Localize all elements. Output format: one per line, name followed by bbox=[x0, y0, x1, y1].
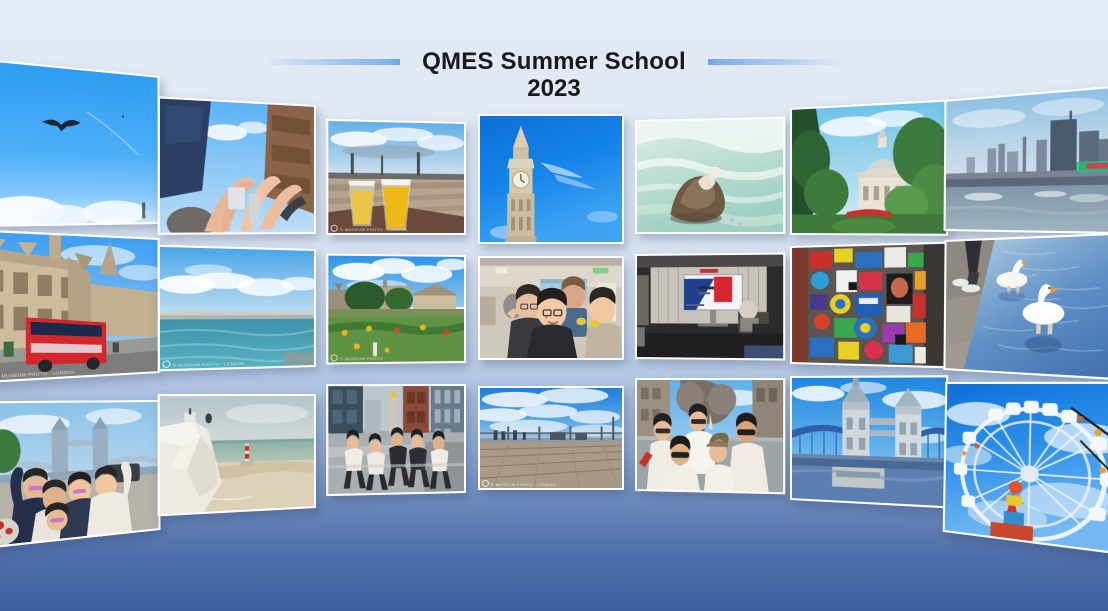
gallery-photo[interactable] bbox=[635, 252, 785, 360]
gallery-photo[interactable] bbox=[478, 114, 624, 244]
gallery-photo[interactable]: © MUSEUM PHOTO · LONDON bbox=[158, 245, 316, 372]
photo-college-gardens bbox=[328, 256, 464, 363]
gallery-photo[interactable]: © MUSEUM PHOTO bbox=[326, 254, 466, 365]
slide-title-block: QMES Summer School 2023 bbox=[0, 48, 1108, 104]
gallery-photo[interactable] bbox=[635, 117, 785, 234]
photo-st-pauls-cathedral bbox=[792, 102, 946, 234]
page-title: QMES Summer School bbox=[422, 48, 686, 76]
gallery-photo[interactable] bbox=[158, 394, 316, 516]
gallery-photo[interactable] bbox=[944, 84, 1108, 234]
title-rule-right-icon bbox=[708, 59, 840, 65]
photo-oxford-street-bus bbox=[0, 232, 158, 381]
photo-beer-on-pier bbox=[328, 121, 464, 233]
gallery-photo[interactable]: © MUSEUM PHOTO · LONDON bbox=[0, 229, 160, 383]
photo-coastal-sea-view bbox=[160, 247, 314, 369]
photo-ferris-wheel bbox=[945, 384, 1108, 554]
gallery-photo[interactable] bbox=[943, 232, 1108, 381]
photo-waves-rocks bbox=[637, 119, 783, 232]
presentation-slide: © MUSEUM PHOTO · LONDON bbox=[0, 0, 1108, 611]
photo-thames-skyline-dusk bbox=[946, 87, 1108, 232]
gallery-photo[interactable] bbox=[326, 384, 466, 496]
page-title-year: 2023 bbox=[0, 75, 1108, 103]
gallery-photo[interactable] bbox=[635, 378, 785, 494]
photo-swans-waterfront bbox=[945, 235, 1108, 379]
photo-hand-gesture-city bbox=[160, 99, 314, 233]
photo-watermark: © MUSEUM PHOTO bbox=[330, 354, 383, 362]
photo-tower-bridge bbox=[792, 377, 946, 506]
photo-wooden-pier-boardwalk bbox=[480, 388, 622, 488]
photo-students-monument-street bbox=[328, 386, 464, 494]
photo-watermark: © MUSEUM PHOTO · LONDON bbox=[482, 480, 556, 487]
photo-watermark: © MUSEUM PHOTO · LONDON bbox=[330, 225, 407, 232]
gallery-photo[interactable] bbox=[158, 96, 316, 235]
photo-group-selfie-indoor bbox=[480, 258, 622, 358]
photo-big-ben bbox=[480, 116, 622, 242]
photo-sticker-graffiti-wall bbox=[792, 244, 946, 366]
gallery-photo[interactable] bbox=[790, 99, 948, 235]
gallery-photo[interactable] bbox=[790, 375, 948, 508]
photo-chalk-cliffs-beach bbox=[160, 396, 314, 514]
gallery-photo[interactable] bbox=[0, 400, 161, 549]
photo-group-tower-bridge bbox=[0, 402, 159, 547]
gallery-photo[interactable] bbox=[790, 242, 948, 369]
gallery-photo[interactable]: © MUSEUM PHOTO · LONDON bbox=[326, 119, 466, 235]
gallery-photo[interactable] bbox=[478, 256, 624, 360]
title-rule-left-icon bbox=[268, 59, 400, 65]
gallery-photo[interactable]: © MUSEUM PHOTO · LONDON bbox=[478, 386, 624, 490]
photo-lecture-presentation bbox=[637, 255, 783, 359]
title-row: QMES Summer School bbox=[0, 48, 1108, 76]
gallery-photo[interactable] bbox=[943, 382, 1108, 557]
photo-group-elephant-sculpture bbox=[637, 380, 783, 492]
